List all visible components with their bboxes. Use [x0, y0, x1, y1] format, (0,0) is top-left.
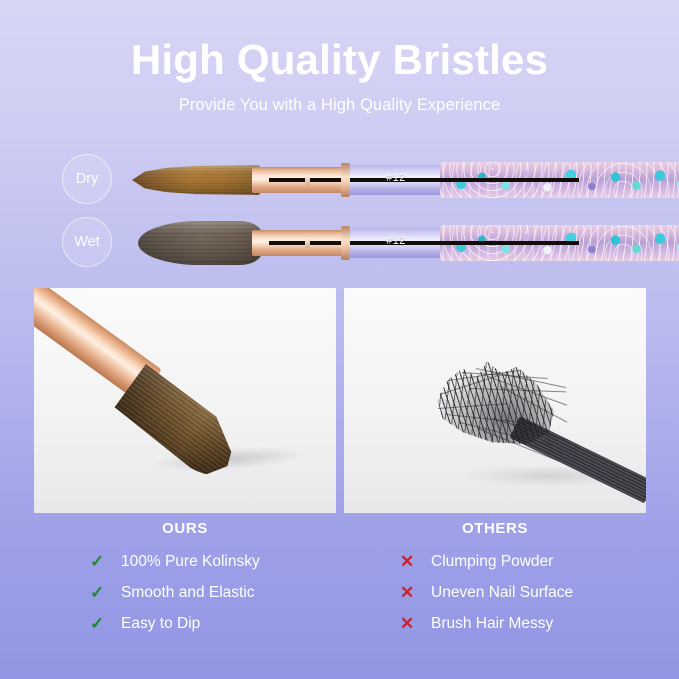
list-item-label: Smooth and Elastic: [121, 584, 255, 602]
handle-number-wet: #12: [350, 235, 442, 247]
list-item: ✕ Clumping Powder: [400, 546, 646, 577]
handle-number-dry: #12: [350, 172, 442, 184]
comparison-column-others: OTHERS ✕ Clumping Powder ✕ Uneven Nail S…: [344, 520, 646, 639]
brush-illustration-dry: #12: [132, 148, 642, 212]
page-subtitle: Provide You with a High Quality Experien…: [0, 96, 679, 115]
list-item-label: Clumping Powder: [431, 553, 553, 571]
state-badge-wet-label: Wet: [74, 234, 100, 250]
brush-dry-icon: [132, 165, 260, 195]
list-item-label: Easy to Dip: [121, 615, 200, 633]
brush-illustration-wet: #12: [132, 211, 642, 275]
list-item-label: Uneven Nail Surface: [431, 584, 573, 602]
list-item: ✓ Easy to Dip: [90, 608, 336, 639]
cross-icon: ✕: [400, 615, 422, 632]
comparison-column-ours: OURS ✓ 100% Pure Kolinsky ✓ Smooth and E…: [34, 520, 336, 639]
list-item-label: Brush Hair Messy: [431, 615, 553, 633]
comparison-heading-others: OTHERS: [344, 520, 646, 537]
list-item: ✓ Smooth and Elastic: [90, 577, 336, 608]
others-brush-photo: [344, 288, 646, 513]
comparison-list-ours: ✓ 100% Pure Kolinsky ✓ Smooth and Elasti…: [34, 546, 336, 639]
check-icon: ✓: [90, 615, 112, 632]
ours-brush-photo: [34, 288, 336, 513]
list-item: ✕ Uneven Nail Surface: [400, 577, 646, 608]
others-photo-frayed-hair: [430, 358, 554, 444]
list-item-label: 100% Pure Kolinsky: [121, 553, 260, 571]
comparison-heading-ours: OURS: [34, 520, 336, 537]
brush-row-dry: Dry #12: [0, 148, 679, 212]
check-icon: ✓: [90, 584, 112, 601]
collar-wet: [341, 226, 350, 260]
brush-row-wet: Wet #12: [0, 211, 679, 275]
shaft-nub-wet: [305, 238, 310, 248]
brush-wet-icon: [138, 221, 262, 265]
cross-icon: ✕: [400, 553, 422, 570]
cross-icon: ✕: [400, 584, 422, 601]
state-badge-wet: Wet: [62, 217, 112, 267]
state-badge-dry: Dry: [62, 154, 112, 204]
state-badge-dry-label: Dry: [76, 171, 99, 187]
product-infographic: High Quality Bristles Provide You with a…: [0, 0, 679, 679]
page-title: High Quality Bristles: [0, 36, 679, 84]
comparison-list-others: ✕ Clumping Powder ✕ Uneven Nail Surface …: [344, 546, 646, 639]
header-block: High Quality Bristles Provide You with a…: [0, 36, 679, 115]
shaft-nub-dry: [305, 175, 310, 185]
list-item: ✕ Brush Hair Messy: [400, 608, 646, 639]
check-icon: ✓: [90, 553, 112, 570]
collar-dry: [341, 163, 350, 197]
list-item: ✓ 100% Pure Kolinsky: [90, 546, 336, 577]
